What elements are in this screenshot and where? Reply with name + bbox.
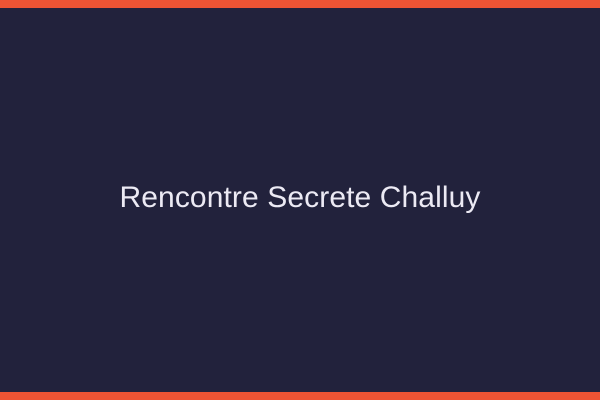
top-accent-bar — [0, 0, 600, 8]
banner-body: Rencontre Secrete Challuy — [0, 8, 600, 392]
bottom-accent-bar — [0, 392, 600, 400]
page-title: Rencontre Secrete Challuy — [119, 180, 480, 216]
banner-card: Rencontre Secrete Challuy — [0, 0, 600, 400]
